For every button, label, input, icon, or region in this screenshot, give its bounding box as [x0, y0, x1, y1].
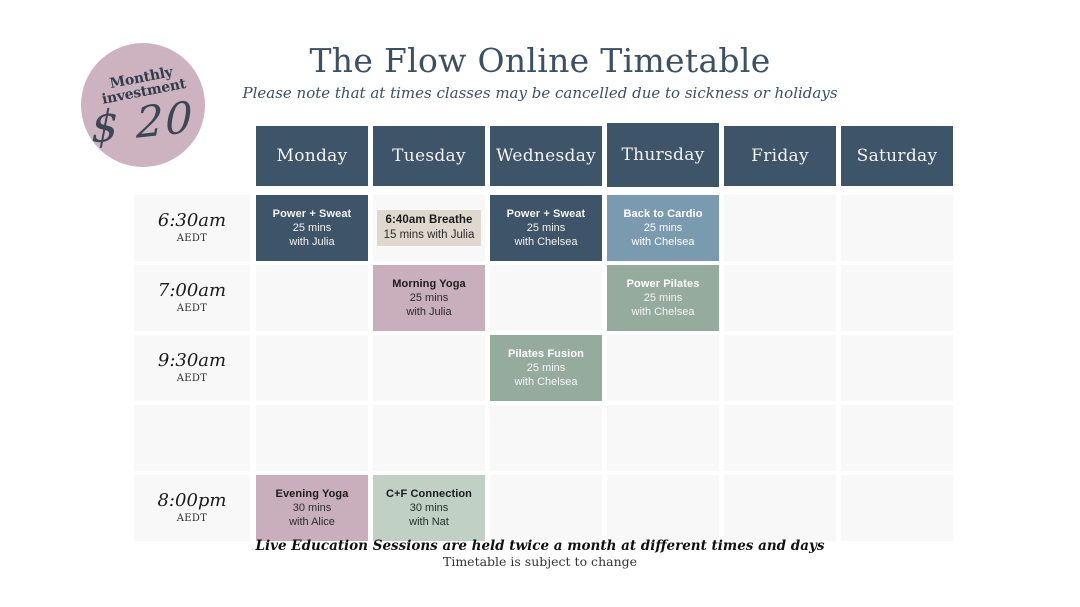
timetable-cell	[607, 405, 719, 471]
day-header-wednesday[interactable]: Wednesday	[490, 126, 602, 186]
timetable-cell	[490, 405, 602, 471]
timetable-cell	[724, 405, 836, 471]
class-slot[interactable]: Evening Yoga30 minswith Alice	[256, 475, 368, 541]
class-instructor: with Chelsea	[515, 375, 578, 389]
timetable-cell: Evening Yoga30 minswith Alice	[256, 475, 368, 541]
timetable-row: 7:00amAEDTMorning Yoga25 minswith JuliaP…	[134, 265, 961, 331]
timetable-cell: C+F Connection30 minswith Nat	[373, 475, 485, 541]
empty-slot	[841, 405, 953, 471]
day-column-tuesday: Tuesday	[373, 126, 485, 191]
class-duration: 25 mins	[644, 291, 683, 305]
empty-slot	[490, 405, 602, 471]
class-name: Back to Cardio	[623, 207, 702, 221]
day-column-friday: Friday	[724, 126, 836, 191]
class-slot[interactable]: Morning Yoga25 minswith Julia	[373, 265, 485, 331]
class-duration: 25 mins	[410, 291, 449, 305]
empty-slot	[607, 475, 719, 541]
timetable-cell	[724, 335, 836, 401]
empty-slot	[724, 405, 836, 471]
class-instructor: with Julia	[406, 305, 451, 319]
empty-slot	[373, 335, 485, 401]
timetable-cell	[373, 335, 485, 401]
class-name: 6:40am Breathe	[385, 213, 472, 228]
timetable-row	[134, 405, 961, 471]
timetable-cell	[841, 195, 953, 261]
time-slot	[134, 405, 250, 471]
class-name: Morning Yoga	[392, 277, 466, 291]
day-header-friday[interactable]: Friday	[724, 126, 836, 186]
time-zone: AEDT	[177, 512, 207, 526]
timetable-cell: Power + Sweat25 minswith Julia	[256, 195, 368, 261]
empty-slot	[724, 335, 836, 401]
class-block[interactable]: Pilates Fusion25 minswith Chelsea	[490, 335, 602, 401]
empty-slot	[724, 265, 836, 331]
empty-slot	[724, 475, 836, 541]
time-label-cell: 6:30amAEDT	[134, 195, 250, 261]
class-name: Power + Sweat	[273, 207, 352, 221]
day-header-thursday[interactable]: Thursday	[607, 123, 719, 187]
timetable-cell	[490, 475, 602, 541]
class-instructor: with Chelsea	[632, 235, 695, 249]
class-name: Pilates Fusion	[508, 347, 584, 361]
time-label-cell: 7:00amAEDT	[134, 265, 250, 331]
class-block[interactable]: C+F Connection30 minswith Nat	[373, 475, 485, 541]
timetable-cell	[841, 265, 953, 331]
time-slot: 7:00amAEDT	[134, 265, 250, 331]
empty-slot	[841, 195, 953, 261]
empty-slot	[490, 475, 602, 541]
timetable-cell	[373, 405, 485, 471]
timetable-cell: Pilates Fusion25 minswith Chelsea	[490, 335, 602, 401]
empty-slot	[724, 195, 836, 261]
empty-slot	[490, 265, 602, 331]
class-instructor: with Julia	[289, 235, 334, 249]
timetable-cell	[607, 475, 719, 541]
timetable-row: 6:30amAEDTPower + Sweat25 minswith Julia…	[134, 195, 961, 261]
class-duration: 25 mins	[527, 361, 566, 375]
empty-slot	[373, 405, 485, 471]
time-value: 6:30am	[158, 210, 226, 232]
empty-slot	[256, 265, 368, 331]
class-slot[interactable]: 6:40am Breathe15 mins with Julia	[373, 195, 485, 261]
timetable-cell: 6:40am Breathe15 mins with Julia	[373, 195, 485, 261]
class-block[interactable]: Power + Sweat25 minswith Chelsea	[490, 195, 602, 261]
empty-slot	[841, 475, 953, 541]
timetable-cell	[607, 335, 719, 401]
timetable-grid: MondayTuesdayWednesdayThursdayFridaySatu…	[134, 126, 961, 545]
page-subtitle: Please note that at times classes may be…	[0, 83, 1080, 103]
class-slot[interactable]: Pilates Fusion25 minswith Chelsea	[490, 335, 602, 401]
time-slot: 9:30amAEDT	[134, 335, 250, 401]
footer-secondary-note: Timetable is subject to change	[0, 553, 1080, 571]
class-duration: 25 mins	[644, 221, 683, 235]
day-header-tuesday[interactable]: Tuesday	[373, 126, 485, 186]
timetable-cell	[724, 265, 836, 331]
timetable-cell: Morning Yoga25 minswith Julia	[373, 265, 485, 331]
class-slot[interactable]: C+F Connection30 minswith Nat	[373, 475, 485, 541]
timetable-cell	[256, 405, 368, 471]
day-header-saturday[interactable]: Saturday	[841, 126, 953, 186]
time-label-cell: 8:00pmAEDT	[134, 475, 250, 541]
class-name: Evening Yoga	[276, 487, 349, 501]
timetable-cell	[490, 265, 602, 331]
timetable-cell	[841, 475, 953, 541]
class-instructor: with Chelsea	[515, 235, 578, 249]
class-duration: 30 mins	[293, 501, 332, 515]
time-value: 7:00am	[158, 280, 226, 302]
class-duration: 30 mins	[410, 501, 449, 515]
empty-slot	[841, 335, 953, 401]
timetable-cell: Power Pilates25 minswith Chelsea	[607, 265, 719, 331]
class-block[interactable]: Power + Sweat25 minswith Julia	[256, 195, 368, 261]
class-block[interactable]: 6:40am Breathe15 mins with Julia	[377, 210, 481, 246]
timetable-cell: Back to Cardio25 minswith Chelsea	[607, 195, 719, 261]
timetable-cell	[724, 195, 836, 261]
class-block[interactable]: Evening Yoga30 minswith Alice	[256, 475, 368, 541]
class-instructor: with Nat	[409, 515, 449, 529]
timetable-cell	[256, 335, 368, 401]
class-block[interactable]: Morning Yoga25 minswith Julia	[373, 265, 485, 331]
timetable-header-row: MondayTuesdayWednesdayThursdayFridaySatu…	[134, 126, 961, 191]
time-label-cell	[134, 405, 250, 471]
class-slot[interactable]: Power Pilates25 minswith Chelsea	[607, 265, 719, 331]
class-block[interactable]: Power Pilates25 minswith Chelsea	[607, 265, 719, 331]
class-slot[interactable]: Power + Sweat25 minswith Chelsea	[490, 195, 602, 261]
empty-slot	[256, 405, 368, 471]
day-column-wednesday: Wednesday	[490, 126, 602, 191]
time-value: 8:00pm	[157, 490, 226, 512]
class-instructor: with Chelsea	[632, 305, 695, 319]
day-header-monday[interactable]: Monday	[256, 126, 368, 186]
day-column-saturday: Saturday	[841, 126, 953, 191]
time-zone: AEDT	[177, 232, 207, 246]
timetable-cell	[724, 475, 836, 541]
timetable-cell	[841, 335, 953, 401]
time-column-header	[134, 126, 250, 191]
timetable-row: 8:00pmAEDTEvening Yoga30 minswith AliceC…	[134, 475, 961, 541]
class-duration: 25 mins	[527, 221, 566, 235]
page-title: The Flow Online Timetable	[0, 42, 1080, 80]
timetable-cell: Power + Sweat25 minswith Chelsea	[490, 195, 602, 261]
class-block[interactable]: Back to Cardio25 minswith Chelsea	[607, 195, 719, 261]
empty-slot	[607, 405, 719, 471]
time-value: 9:30am	[158, 350, 226, 372]
class-duration: 25 mins	[293, 221, 332, 235]
empty-slot	[256, 335, 368, 401]
day-column-monday: Monday	[256, 126, 368, 191]
time-slot: 8:00pmAEDT	[134, 475, 250, 541]
class-name: Power Pilates	[627, 277, 700, 291]
day-column-thursday: Thursday	[607, 126, 719, 191]
timetable-cell	[256, 265, 368, 331]
empty-slot	[607, 335, 719, 401]
class-instructor: with Alice	[289, 515, 335, 529]
timetable-row: 9:30amAEDTPilates Fusion25 minswith Chel…	[134, 335, 961, 401]
class-slot[interactable]: Back to Cardio25 minswith Chelsea	[607, 195, 719, 261]
class-slot[interactable]: Power + Sweat25 minswith Julia	[256, 195, 368, 261]
time-zone: AEDT	[177, 372, 207, 386]
time-label-cell: 9:30amAEDT	[134, 335, 250, 401]
class-name: C+F Connection	[386, 487, 472, 501]
class-duration: 15 mins with Julia	[384, 228, 475, 243]
timetable-cell	[841, 405, 953, 471]
class-name: Power + Sweat	[507, 207, 586, 221]
empty-slot	[841, 265, 953, 331]
time-slot: 6:30amAEDT	[134, 195, 250, 261]
time-zone: AEDT	[177, 302, 207, 316]
